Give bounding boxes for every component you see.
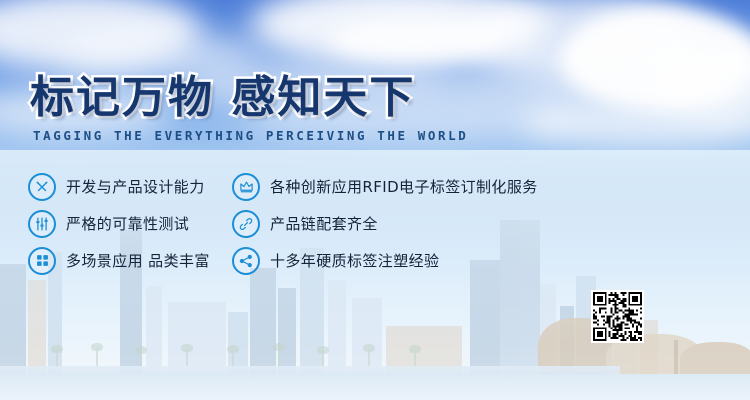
crown-icon xyxy=(232,173,260,201)
feature-label: 多场景应用 品类丰富 xyxy=(66,250,210,271)
feature-item: 开发与产品设计能力 xyxy=(28,168,210,205)
grid-icon xyxy=(28,247,56,275)
page-subtitle: TAGGING THE EVERYTHING PERCEIVING THE WO… xyxy=(33,128,468,143)
feature-item: 各种创新应用RFID电子标签订制化服务 xyxy=(232,168,538,205)
feature-item: 严格的可靠性测试 xyxy=(28,205,210,242)
qr-code[interactable] xyxy=(591,290,644,343)
feature-label: 产品链配套齐全 xyxy=(270,213,378,234)
link-icon xyxy=(232,210,260,238)
feature-label: 严格的可靠性测试 xyxy=(66,213,189,234)
feature-item: 十多年硬质标签注塑经验 xyxy=(232,242,538,279)
tools-icon xyxy=(28,173,56,201)
feature-label: 开发与产品设计能力 xyxy=(66,176,205,197)
feature-item: 多场景应用 品类丰富 xyxy=(28,242,210,279)
promo-banner: 标记万物 感知天下 TAGGING THE EVERYTHING PERCEIV… xyxy=(0,0,750,400)
feature-item: 产品链配套齐全 xyxy=(232,205,538,242)
qr-code-image xyxy=(593,292,642,341)
sliders-icon xyxy=(28,210,56,238)
feature-label: 十多年硬质标签注塑经验 xyxy=(270,250,439,271)
feature-list: 开发与产品设计能力 严格的可靠性测试 xyxy=(0,168,750,278)
feature-column-right: 各种创新应用RFID电子标签订制化服务 产品链配套齐全 xyxy=(232,168,538,279)
share-icon xyxy=(232,247,260,275)
feature-label: 各种创新应用RFID电子标签订制化服务 xyxy=(270,176,538,197)
feature-column-left: 开发与产品设计能力 严格的可靠性测试 xyxy=(28,168,210,279)
page-title: 标记万物 感知天下 xyxy=(30,72,415,124)
